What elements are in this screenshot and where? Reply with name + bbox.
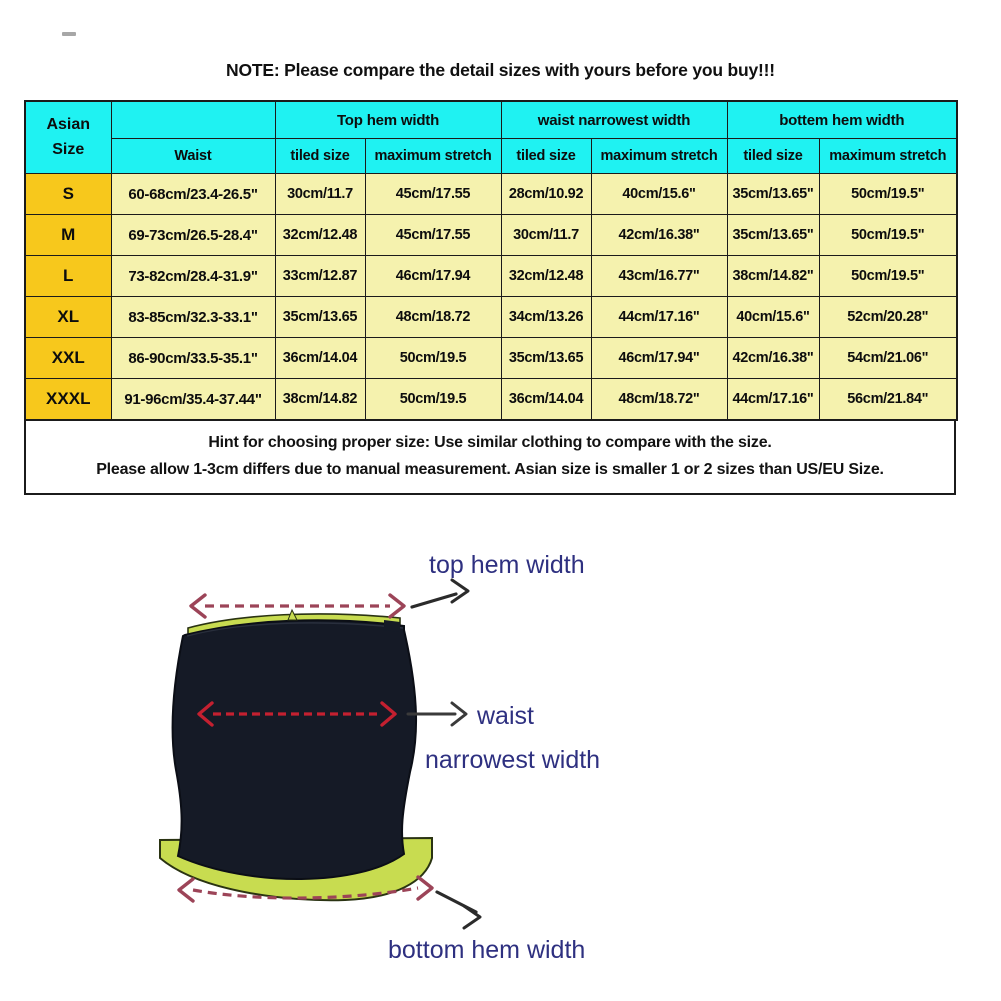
size-chart-table: Asian Size Top hem width waist narrowest… <box>24 100 958 421</box>
row-size-label: M <box>25 215 111 256</box>
top-hem-leader-line <box>412 594 456 607</box>
label-waist: waist <box>476 702 534 730</box>
image-artifact-speck <box>62 32 76 36</box>
hint-line-1: Hint for choosing proper size: Use simil… <box>32 429 948 456</box>
cell-top-tiled: 32cm/12.48 <box>275 215 365 256</box>
cell-bottom-stretch: 50cm/19.5" <box>819 256 957 297</box>
cell-top-tiled: 30cm/11.7 <box>275 174 365 215</box>
table-row: S 60-68cm/23.4-26.5" 30cm/11.7 45cm/17.5… <box>25 174 957 215</box>
hint-block: Hint for choosing proper size: Use simil… <box>24 421 956 495</box>
cell-bottom-tiled: 44cm/17.16" <box>727 379 819 421</box>
cell-top-stretch: 48cm/18.72 <box>365 297 501 338</box>
subheader-top-tiled-size: tiled size <box>275 139 365 174</box>
header-waist-group-spacer <box>111 101 275 139</box>
header-group-top-hem: Top hem width <box>275 101 501 139</box>
note-heading: NOTE: Please compare the detail sizes wi… <box>0 60 1001 81</box>
cell-bottom-stretch: 52cm/20.28" <box>819 297 957 338</box>
cell-waist-tiled: 32cm/12.48 <box>501 256 591 297</box>
row-size-label: XXL <box>25 338 111 379</box>
cell-waist: 86-90cm/33.5-35.1" <box>111 338 275 379</box>
cell-bottom-tiled: 35cm/13.65" <box>727 174 819 215</box>
header-group-bottom-hem: bottem hem width <box>727 101 957 139</box>
cell-bottom-stretch: 56cm/21.84" <box>819 379 957 421</box>
cell-bottom-stretch: 54cm/21.06" <box>819 338 957 379</box>
subheader-waist: Waist <box>111 139 275 174</box>
cell-waist: 69-73cm/26.5-28.4" <box>111 215 275 256</box>
row-size-label: S <box>25 174 111 215</box>
table-row: M 69-73cm/26.5-28.4" 32cm/12.48 45cm/17.… <box>25 215 957 256</box>
cell-waist-stretch: 40cm/15.6" <box>591 174 727 215</box>
subheader-waist-maximum-stretch: maximum stretch <box>591 139 727 174</box>
table-head: Asian Size Top hem width waist narrowest… <box>25 101 957 174</box>
measurement-diagram: top hem width waist narrowest width bott… <box>0 540 1001 1001</box>
bottom-hem-right-arrowhead <box>418 877 432 899</box>
table-body: S 60-68cm/23.4-26.5" 30cm/11.7 45cm/17.5… <box>25 174 957 421</box>
cell-bottom-stretch: 50cm/19.5" <box>819 215 957 256</box>
cell-waist: 83-85cm/32.3-33.1" <box>111 297 275 338</box>
cell-waist-stretch: 46cm/17.94" <box>591 338 727 379</box>
row-size-label: L <box>25 256 111 297</box>
cell-waist-tiled: 35cm/13.65 <box>501 338 591 379</box>
cell-waist-stretch: 48cm/18.72" <box>591 379 727 421</box>
cell-waist: 60-68cm/23.4-26.5" <box>111 174 275 215</box>
cell-top-tiled: 36cm/14.04 <box>275 338 365 379</box>
label-top-hem-width: top hem width <box>429 551 585 579</box>
top-hem-leader-arrowhead <box>452 580 468 602</box>
table-row: XXL 86-90cm/33.5-35.1" 36cm/14.04 50cm/1… <box>25 338 957 379</box>
top-hem-measure-group: top hem width <box>191 551 585 617</box>
bottom-hem-left-arrowhead <box>179 879 193 901</box>
cell-bottom-tiled: 40cm/15.6" <box>727 297 819 338</box>
cell-waist-tiled: 30cm/11.7 <box>501 215 591 256</box>
cell-top-tiled: 38cm/14.82 <box>275 379 365 421</box>
cell-top-stretch: 50cm/19.5 <box>365 338 501 379</box>
cell-bottom-tiled: 42cm/16.38" <box>727 338 819 379</box>
cell-top-stretch: 45cm/17.55 <box>365 174 501 215</box>
header-asian-size-line1: Asian <box>26 113 111 138</box>
cell-bottom-stretch: 50cm/19.5" <box>819 174 957 215</box>
cell-bottom-tiled: 35cm/13.65" <box>727 215 819 256</box>
header-group-waist-narrowest: waist narrowest width <box>501 101 727 139</box>
cell-waist-tiled: 36cm/14.04 <box>501 379 591 421</box>
cell-top-tiled: 33cm/12.87 <box>275 256 365 297</box>
cell-top-stretch: 45cm/17.55 <box>365 215 501 256</box>
cell-waist: 73-82cm/28.4-31.9" <box>111 256 275 297</box>
top-hem-left-arrowhead <box>191 595 205 617</box>
cell-top-stretch: 50cm/19.5 <box>365 379 501 421</box>
header-asian-size-line2: Size <box>26 138 111 163</box>
label-bottom-hem-width: bottom hem width <box>388 936 585 964</box>
table-row: L 73-82cm/28.4-31.9" 33cm/12.87 46cm/17.… <box>25 256 957 297</box>
label-narrowest-width: narrowest width <box>425 746 600 774</box>
cell-top-tiled: 35cm/13.65 <box>275 297 365 338</box>
hint-line-2: Please allow 1-3cm differs due to manual… <box>32 456 948 483</box>
row-size-label: XXXL <box>25 379 111 421</box>
table-row: XL 83-85cm/32.3-33.1" 35cm/13.65 48cm/18… <box>25 297 957 338</box>
garment-body <box>173 620 416 879</box>
cell-waist-stretch: 43cm/16.77" <box>591 256 727 297</box>
cell-waist-tiled: 28cm/10.92 <box>501 174 591 215</box>
subheader-bottom-maximum-stretch: maximum stretch <box>819 139 957 174</box>
top-hem-right-arrowhead <box>390 595 404 617</box>
cell-top-stretch: 46cm/17.94 <box>365 256 501 297</box>
cell-waist: 91-96cm/35.4-37.44" <box>111 379 275 421</box>
garment-top-tab <box>384 620 400 632</box>
row-size-label: XL <box>25 297 111 338</box>
table-header-row-sub: Waist tiled size maximum stretch tiled s… <box>25 139 957 174</box>
header-asian-size: Asian Size <box>25 101 111 174</box>
table-row: XXXL 91-96cm/35.4-37.44" 38cm/14.82 50cm… <box>25 379 957 421</box>
table-header-row-groups: Asian Size Top hem width waist narrowest… <box>25 101 957 139</box>
cell-waist-tiled: 34cm/13.26 <box>501 297 591 338</box>
cell-waist-stretch: 42cm/16.38" <box>591 215 727 256</box>
subheader-top-maximum-stretch: maximum stretch <box>365 139 501 174</box>
size-chart-block: Asian Size Top hem width waist narrowest… <box>24 100 956 495</box>
garment-illustration <box>160 610 432 900</box>
cell-bottom-tiled: 38cm/14.82" <box>727 256 819 297</box>
subheader-bottom-tiled-size: tiled size <box>727 139 819 174</box>
subheader-waist-tiled-size: tiled size <box>501 139 591 174</box>
cell-waist-stretch: 44cm/17.16" <box>591 297 727 338</box>
